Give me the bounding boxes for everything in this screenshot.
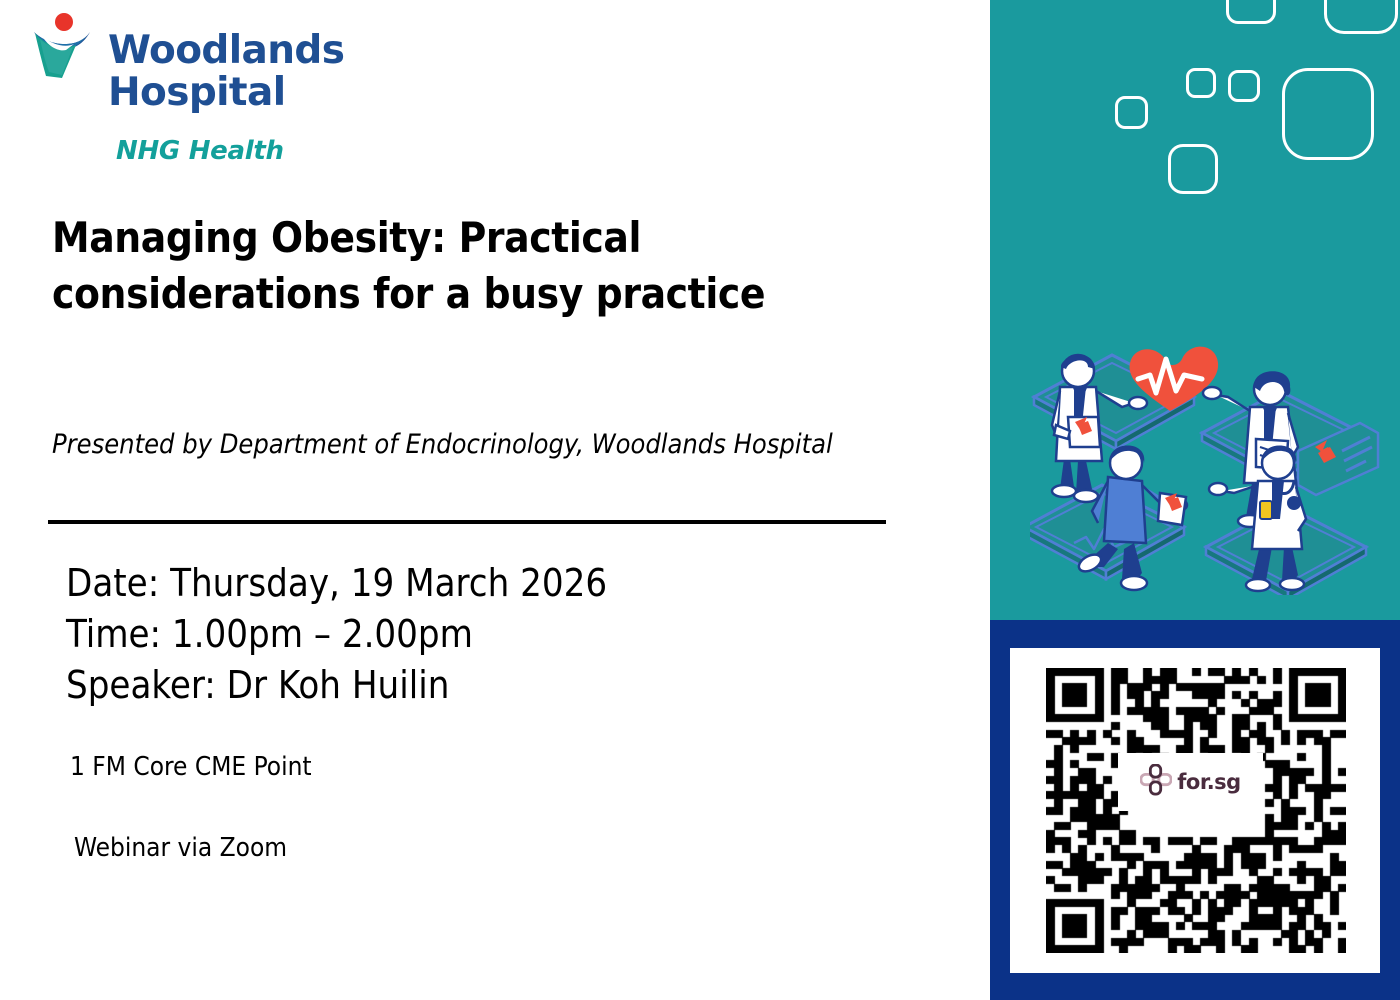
detail-line-time: Time: 1.00pm – 2.00pm bbox=[66, 609, 786, 660]
isometric-telehealth-doctors-illustration bbox=[1030, 275, 1380, 595]
forsg-logo-badge: for.sg bbox=[1118, 753, 1263, 811]
nhg-running-figure-logo-mark-icon bbox=[32, 12, 94, 78]
teal-graphic-band bbox=[990, 0, 1400, 620]
decorative-rounded-square bbox=[1168, 144, 1218, 194]
hospital-wordmark: Woodlands Hospital bbox=[108, 30, 344, 114]
decorative-rounded-square bbox=[1324, 0, 1398, 34]
poster-left-content-column: Woodlands Hospital NHG Health Managing O… bbox=[0, 0, 990, 1000]
detail-line-date: Date: Thursday, 19 March 2026 bbox=[66, 558, 786, 609]
forsg-logo-text: for.sg bbox=[1177, 770, 1240, 794]
wordmark-line-2: Hospital bbox=[108, 72, 344, 114]
cme-points-label: 1 FM Core CME Point bbox=[70, 752, 312, 782]
delivery-mode-label: Webinar via Zoom bbox=[74, 833, 287, 863]
horizontal-divider bbox=[48, 520, 886, 524]
decorative-rounded-square bbox=[1282, 68, 1374, 160]
page-title: Managing Obesity: Practical consideratio… bbox=[52, 210, 782, 322]
decorative-rounded-square bbox=[1186, 68, 1216, 98]
decorative-rounded-square bbox=[1115, 96, 1148, 129]
qr-code-white-background: for.sg bbox=[1010, 648, 1380, 973]
wordmark-line-1: Woodlands bbox=[108, 30, 344, 72]
presented-by-text: Presented by Department of Endocrinology… bbox=[52, 428, 872, 462]
detail-line-speaker: Speaker: Dr Koh Huilin bbox=[66, 660, 786, 711]
poster-right-panel: for.sg bbox=[990, 0, 1400, 1000]
sub-brand-label: NHG Health bbox=[116, 136, 284, 166]
decorative-rounded-square bbox=[1228, 70, 1260, 102]
qr-code-frame: for.sg bbox=[990, 620, 1400, 1000]
forsg-chain-link-icon bbox=[1140, 764, 1172, 801]
decorative-rounded-square bbox=[1226, 0, 1276, 24]
event-details-list: Date: Thursday, 19 March 2026 Time: 1.00… bbox=[66, 558, 786, 711]
hospital-logo-block: Woodlands Hospital NHG Health bbox=[32, 8, 352, 168]
